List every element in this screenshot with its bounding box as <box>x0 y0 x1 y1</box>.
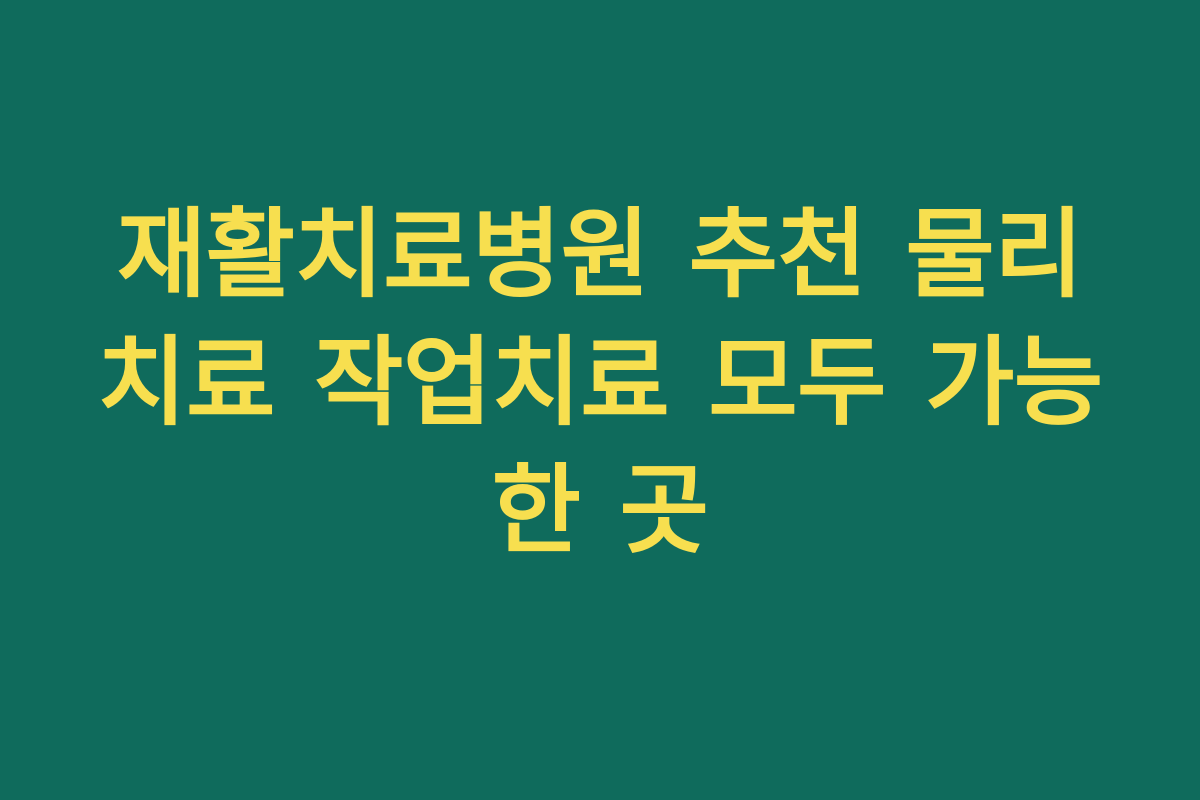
headline-block: 재활치료병원 추천 물리치료 작업치료 모두 가능한 곳 <box>80 191 1120 575</box>
headline-text: 재활치료병원 추천 물리치료 작업치료 모두 가능한 곳 <box>80 191 1120 575</box>
thumbnail-card: 재활치료병원 추천 물리치료 작업치료 모두 가능한 곳 <box>0 0 1200 800</box>
